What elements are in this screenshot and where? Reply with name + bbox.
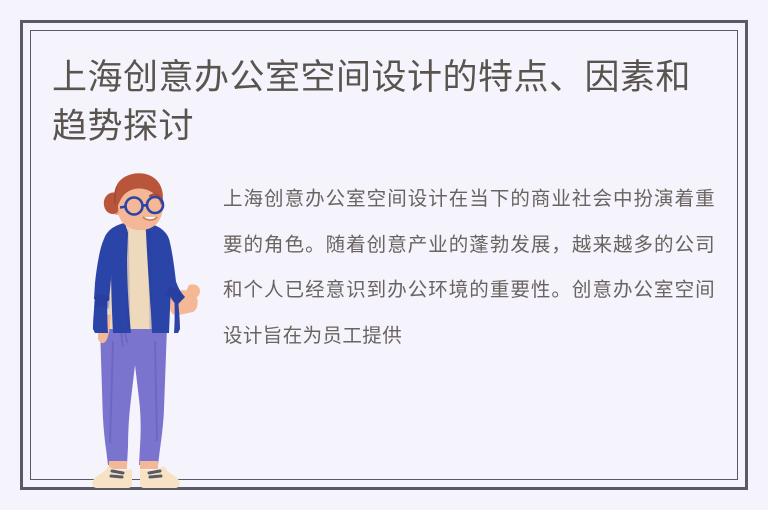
page-title: 上海创意办公室空间设计的特点、因素和趋势探讨 <box>52 53 712 151</box>
article-paragraph: 上海创意办公室空间设计在当下的商业社会中扮演着重要的角色。随着创意产业的蓬勃发展… <box>223 177 715 359</box>
glasses-temple <box>120 207 126 208</box>
cardigan-shadow-right <box>149 229 151 329</box>
cardigan-shadow-left <box>127 229 129 329</box>
article-card: 上海创意办公室空间设计的特点、因素和趋势探讨 <box>20 20 748 490</box>
ankle-left <box>109 461 127 469</box>
standing-person-illustration <box>65 173 205 493</box>
ankle-right <box>140 461 158 469</box>
article-body: 上海创意办公室空间设计在当下的商业社会中扮演着重要的角色。随着创意产业的蓬勃发展… <box>31 171 737 479</box>
article-card-inner-border: 上海创意办公室空间设计的特点、因素和趋势探讨 <box>30 30 738 480</box>
hair-bun <box>104 192 118 214</box>
